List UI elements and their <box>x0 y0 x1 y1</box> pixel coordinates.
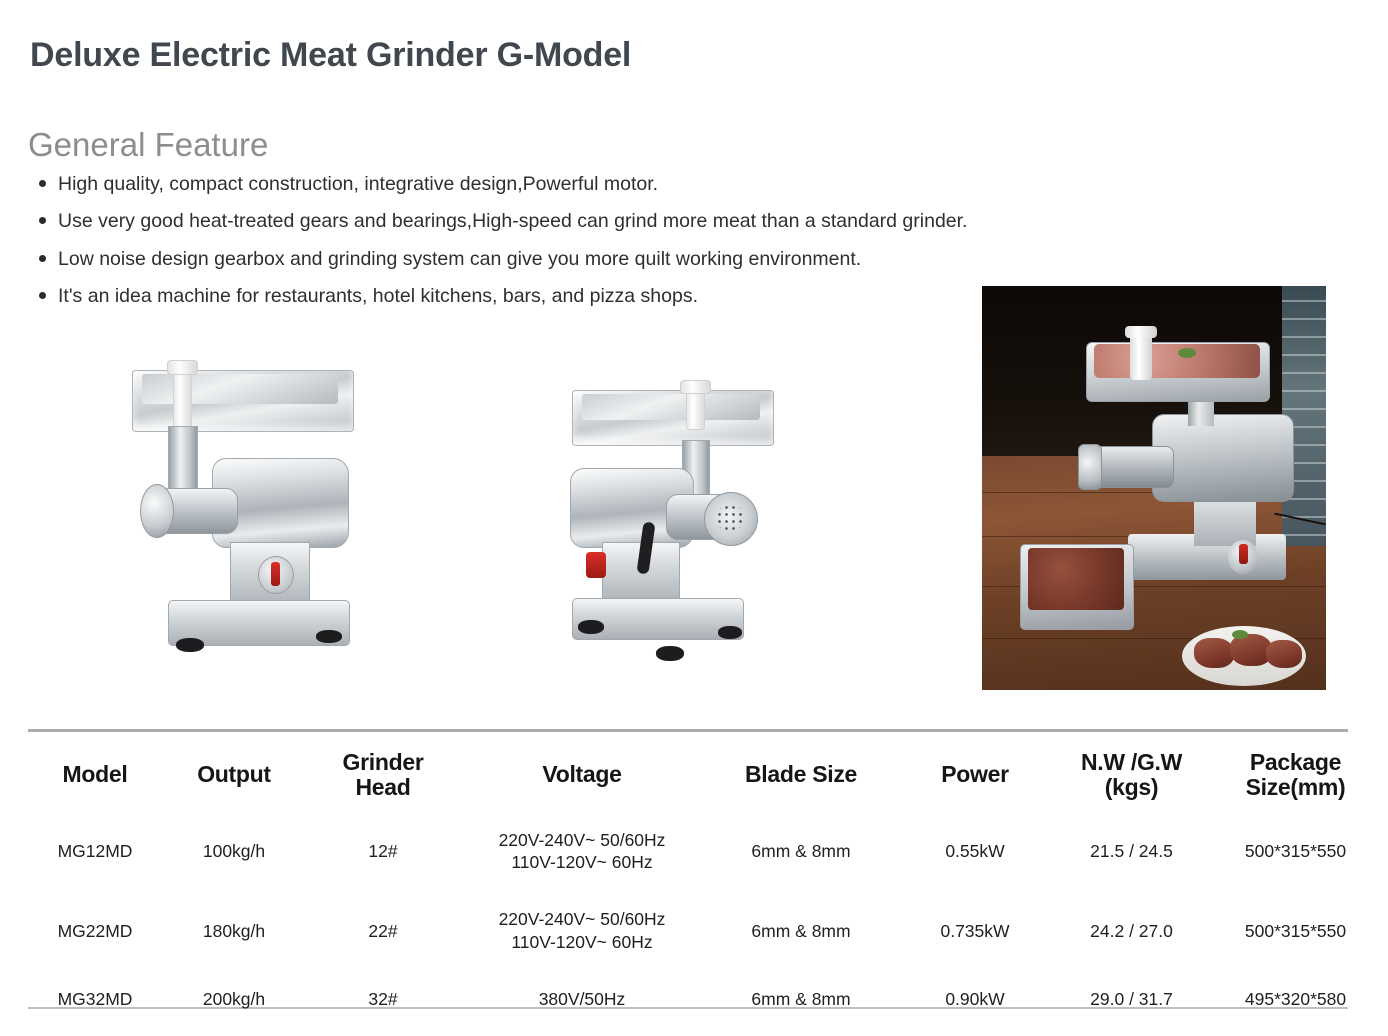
feed-tray-inner <box>582 394 760 420</box>
feature-text: It's an idea machine for restaurants, ho… <box>58 285 698 307</box>
steak-slice <box>1194 638 1234 668</box>
feature-text: High quality, compact construction, inte… <box>58 173 658 195</box>
product-spec-sheet: Deluxe Electric Meat Grinder G-Model Gen… <box>0 0 1388 1036</box>
cell-output: 180kg/h <box>162 891 306 971</box>
meat-grinder-lifestyle-photo <box>982 286 1326 690</box>
raw-meat-chunks <box>1094 344 1260 378</box>
rubber-foot <box>718 626 742 639</box>
power-switch-knob[interactable] <box>586 552 606 578</box>
bullet-icon <box>39 255 46 262</box>
rubber-foot <box>316 630 342 643</box>
rubber-foot <box>578 620 604 634</box>
cell-nw-gw: 21.5 / 24.5 <box>1052 812 1211 892</box>
ground-meat <box>1028 548 1124 610</box>
cell-output: 100kg/h <box>162 812 306 892</box>
cell-grinder-head: 22# <box>306 891 460 971</box>
feature-item: Use very good heat-treated gears and bea… <box>36 209 1156 233</box>
cell-model: MG32MD <box>28 971 162 1028</box>
page-title: Deluxe Electric Meat Grinder G-Model <box>30 36 631 75</box>
feature-item: Low noise design gearbox and grinding sy… <box>36 247 1156 271</box>
cell-voltage: 220V-240V~ 50/60Hz 110V-120V~ 60Hz <box>460 812 704 892</box>
cell-output: 200kg/h <box>162 971 306 1028</box>
meat-grinder-right-facing-photo <box>556 382 806 682</box>
rubber-foot <box>656 646 684 661</box>
herb-garnish <box>1232 630 1248 639</box>
mincing-plate <box>1078 444 1102 490</box>
mincing-plate-holes <box>716 504 744 532</box>
column-header-blade-size: Blade Size <box>704 740 898 812</box>
steak-slice <box>1266 640 1302 668</box>
cell-voltage: 220V-240V~ 50/60Hz 110V-120V~ 60Hz <box>460 891 704 971</box>
cell-nw-gw: 29.0 / 31.7 <box>1052 971 1211 1028</box>
cell-blade-size: 6mm & 8mm <box>704 812 898 892</box>
food-pusher-cap <box>680 380 711 394</box>
cell-power: 0.735kW <box>898 891 1052 971</box>
feed-tray-inner <box>142 374 338 404</box>
cell-nw-gw: 24.2 / 27.0 <box>1052 891 1211 971</box>
food-pusher-cap <box>1125 326 1157 338</box>
power-switch-knob[interactable] <box>271 562 280 586</box>
mincing-plate <box>140 484 174 538</box>
cell-model: MG22MD <box>28 891 162 971</box>
feed-throat <box>168 426 198 490</box>
cell-grinder-head: 12# <box>306 812 460 892</box>
cell-grinder-head: 32# <box>306 971 460 1028</box>
bullet-icon <box>39 180 46 187</box>
table-row: MG32MD 200kg/h 32# 380V/50Hz 6mm & 8mm 0… <box>28 971 1380 1028</box>
rubber-foot <box>176 638 204 652</box>
cell-power: 0.55kW <box>898 812 1052 892</box>
table-row: MG12MD 100kg/h 12# 220V-240V~ 50/60Hz 11… <box>28 812 1380 892</box>
feature-text: Low noise design gearbox and grinding sy… <box>58 248 861 270</box>
cell-package-size: 495*320*580 <box>1211 971 1380 1028</box>
power-switch-knob[interactable] <box>1239 544 1248 564</box>
cell-blade-size: 6mm & 8mm <box>704 971 898 1028</box>
meat-grinder-left-facing-photo <box>120 360 390 690</box>
specification-table: Model Output Grinder Head Voltage Blade … <box>28 740 1380 1027</box>
column-header-nw-gw: N.W /G.W (kgs) <box>1052 740 1211 812</box>
feature-item: High quality, compact construction, inte… <box>36 172 1156 196</box>
section-heading-general-feature: General Feature <box>28 126 268 164</box>
cell-package-size: 500*315*550 <box>1211 812 1380 892</box>
column-header-voltage: Voltage <box>460 740 704 812</box>
bullet-icon <box>39 217 46 224</box>
cell-power: 0.90kW <box>898 971 1052 1028</box>
cell-model: MG12MD <box>28 812 162 892</box>
cell-package-size: 500*315*550 <box>1211 891 1380 971</box>
bullet-icon <box>39 292 46 299</box>
table-header-row: Model Output Grinder Head Voltage Blade … <box>28 740 1380 812</box>
cell-voltage: 380V/50Hz <box>460 971 704 1028</box>
table-row: MG22MD 180kg/h 22# 220V-240V~ 50/60Hz 11… <box>28 891 1380 971</box>
cell-blade-size: 6mm & 8mm <box>704 891 898 971</box>
table-top-rule <box>28 729 1348 732</box>
column-header-model: Model <box>28 740 162 812</box>
food-pusher-cap <box>167 360 198 375</box>
column-header-power: Power <box>898 740 1052 812</box>
column-header-output: Output <box>162 740 306 812</box>
feature-text: Use very good heat-treated gears and bea… <box>58 210 967 232</box>
column-header-grinder-head: Grinder Head <box>306 740 460 812</box>
column-header-package-size: Package Size(mm) <box>1211 740 1380 812</box>
herb-garnish <box>1178 348 1196 358</box>
